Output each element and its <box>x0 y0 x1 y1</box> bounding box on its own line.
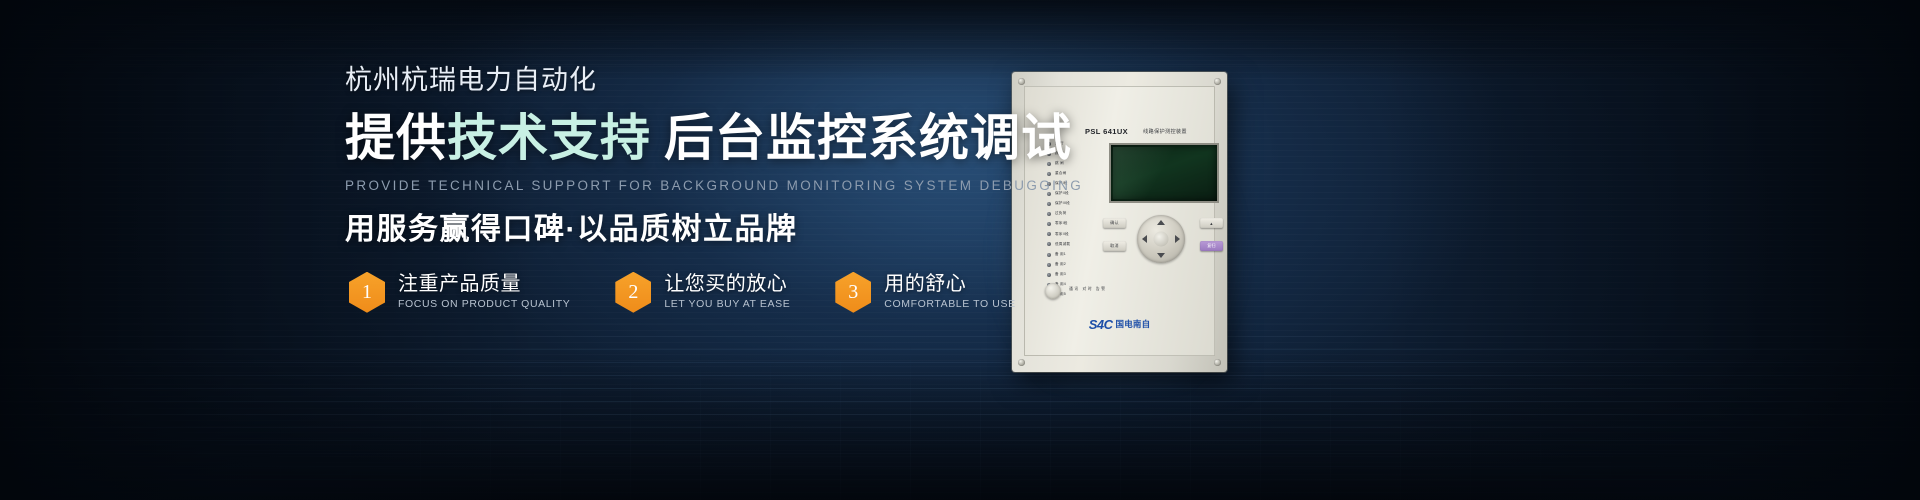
device-model-label: PSL 641UX <box>1085 127 1128 136</box>
led-label: 保护III段 <box>1055 202 1070 206</box>
key-confirm: 确认 <box>1103 218 1126 228</box>
slogan: 用服务赢得口碑·以品质树立品牌 <box>345 204 1045 248</box>
key-up: ▲ <box>1200 218 1223 228</box>
banner-content: 杭州杭瑞电力自动化 提供技术支持后台监控系统调试 PROVIDE TECHNIC… <box>345 66 1045 313</box>
lcd-glare <box>1113 147 1215 199</box>
arrow-up-icon <box>1157 220 1165 225</box>
feature-subtitle: COMFORTABLE TO USE <box>884 299 1015 310</box>
hexagon-badge-icon: 1 <box>349 272 385 313</box>
led-icon <box>1047 242 1051 246</box>
hero-banner: 杭州杭瑞电力自动化 提供技术支持后台监控系统调试 PROVIDE TECHNIC… <box>0 0 1920 500</box>
headline-subtitle-english: PROVIDE TECHNICAL SUPPORT FOR BACKGROUND… <box>345 178 1045 193</box>
led-label: 保护II段 <box>1055 192 1069 196</box>
led-icon <box>1047 222 1051 226</box>
feature-title: 让您买的放心 <box>664 274 790 294</box>
led-row: 备 用3 <box>1047 272 1101 277</box>
led-icon <box>1047 202 1051 206</box>
led-label: 零序II段 <box>1055 233 1069 237</box>
led-label: 重合闸 <box>1055 172 1066 176</box>
led-row: 零序I段 <box>1047 222 1101 227</box>
device-round-port <box>1045 283 1061 299</box>
feature-subtitle: FOCUS ON PRODUCT QUALITY <box>398 299 570 310</box>
feature-item-1: 1 注重产品质量 FOCUS ON PRODUCT QUALITY <box>349 272 570 313</box>
led-label: 低周减载 <box>1055 243 1070 247</box>
brand-mark-text: S4C <box>1089 318 1113 331</box>
led-label: 备 用2 <box>1055 263 1066 267</box>
led-row: 备 用1 <box>1047 252 1101 257</box>
headline: 提供技术支持后台监控系统调试 <box>345 110 1045 166</box>
feature-text-block: 注重产品质量 FOCUS ON PRODUCT QUALITY <box>398 274 570 310</box>
hexagon-badge-icon: 2 <box>615 272 651 313</box>
feature-item-3: 3 用的舒心 COMFORTABLE TO USE <box>835 272 1015 313</box>
led-icon <box>1047 253 1051 257</box>
company-name: 杭州杭瑞电力自动化 <box>345 66 1045 96</box>
feature-item-2: 2 让您买的放心 LET YOU BUY AT EASE <box>615 272 790 313</box>
device-lcd-screen <box>1109 143 1219 203</box>
device-keypad: 确认 取消 ▲ 复归 <box>1103 213 1223 273</box>
led-row: 零序II段 <box>1047 232 1101 237</box>
feature-title: 注重产品质量 <box>398 274 570 294</box>
screw-icon <box>1214 78 1221 85</box>
feature-subtitle: LET YOU BUY AT EASE <box>664 299 790 310</box>
arrow-right-icon <box>1175 235 1180 243</box>
device-model-description: 线路保护测控装置 <box>1143 128 1187 135</box>
arrow-left-icon <box>1142 235 1147 243</box>
feature-number: 3 <box>848 282 858 302</box>
headline-part-1: 提供 <box>345 110 447 166</box>
led-row: 低周减载 <box>1047 242 1101 247</box>
hexagon-badge-icon: 3 <box>835 272 871 313</box>
screw-icon <box>1018 359 1025 366</box>
feature-title: 用的舒心 <box>884 274 1015 294</box>
led-icon <box>1047 263 1051 267</box>
feature-text-block: 让您买的放心 LET YOU BUY AT EASE <box>664 274 790 310</box>
led-row: 重合闸 <box>1047 171 1101 176</box>
led-row: 备 用2 <box>1047 262 1101 267</box>
led-icon <box>1047 212 1051 216</box>
feature-text-block: 用的舒心 COMFORTABLE TO USE <box>884 274 1015 310</box>
headline-part-3: 后台监控系统调试 <box>664 110 1072 166</box>
key-reset: 复归 <box>1200 241 1223 251</box>
led-icon <box>1047 273 1051 277</box>
brand-name-cn: 国电南自 <box>1115 320 1150 329</box>
feature-number: 2 <box>628 282 638 302</box>
device-brand-logo: S4C 国电南自 <box>1089 318 1151 331</box>
arrow-down-icon <box>1157 253 1165 258</box>
headline-part-2: 技术支持 <box>447 110 651 166</box>
key-cancel: 取消 <box>1103 241 1126 251</box>
feature-list: 1 注重产品质量 FOCUS ON PRODUCT QUALITY 2 让您买的… <box>349 272 1045 313</box>
led-label: 过负荷 <box>1055 212 1066 216</box>
led-icon <box>1047 232 1051 236</box>
dpad-center-button <box>1154 232 1169 247</box>
navigation-dpad-icon <box>1137 215 1185 263</box>
feature-number: 1 <box>362 282 372 302</box>
led-row: 保护III段 <box>1047 202 1101 207</box>
led-label: 备 用1 <box>1055 253 1066 257</box>
led-row: 过负荷 <box>1047 212 1101 217</box>
led-icon <box>1047 172 1051 176</box>
led-label: 零序I段 <box>1055 222 1068 226</box>
led-label: 备 用3 <box>1055 273 1066 277</box>
screw-icon <box>1214 359 1221 366</box>
device-bottom-labels: 通讯 对时 告警 <box>1069 287 1107 292</box>
